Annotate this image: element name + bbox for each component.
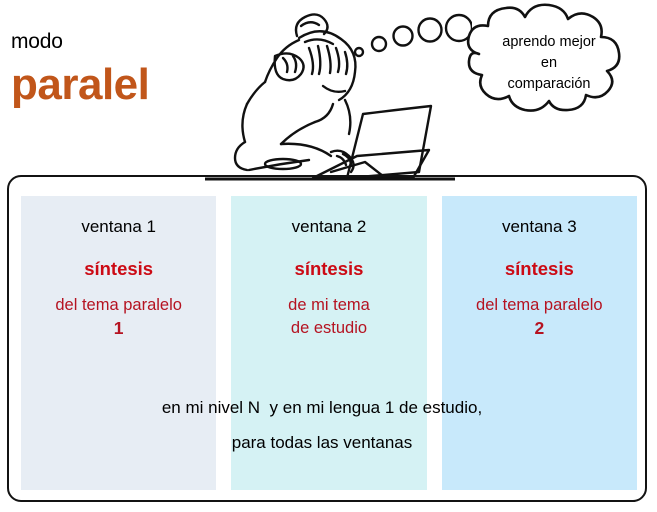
caption-line-1: en mi nivel N y en mi lengua 1 de estudi… bbox=[21, 390, 623, 425]
cloud-text-line-1: aprendo mejor bbox=[463, 32, 635, 53]
page-title: paralel bbox=[11, 60, 149, 110]
cloud-text-line-2: en bbox=[463, 53, 635, 74]
detail-text-2: de mi tema de estudio bbox=[231, 294, 426, 340]
detail-line-2-1: de mi tema bbox=[231, 294, 426, 317]
cloud-text-line-3: comparación bbox=[463, 74, 635, 95]
window-label-1: ventana 1 bbox=[21, 216, 216, 238]
detail-line-2-2: de estudio bbox=[231, 317, 426, 340]
detail-line-1-1: del tema paralelo bbox=[21, 294, 216, 317]
thought-cloud-text: aprendo mejor en comparación bbox=[463, 32, 635, 95]
detail-strong-1: 1 bbox=[21, 317, 216, 340]
caption-line-2: para todas las ventanas bbox=[21, 425, 623, 460]
mode-label: modo bbox=[11, 30, 63, 54]
detail-line-3-1: del tema paralelo bbox=[442, 294, 637, 317]
detail-text-3: del tema paralelo 2 bbox=[442, 294, 637, 340]
detail-strong-3: 2 bbox=[442, 317, 637, 340]
synthesis-label-2: síntesis bbox=[231, 258, 426, 280]
synthesis-label-1: síntesis bbox=[21, 258, 216, 280]
window-label-3: ventana 3 bbox=[442, 216, 637, 238]
header-area: modo paralel bbox=[0, 0, 657, 175]
panel-caption: en mi nivel N y en mi lengua 1 de estudi… bbox=[21, 390, 623, 460]
detail-text-1: del tema paralelo 1 bbox=[21, 294, 216, 340]
window-label-2: ventana 2 bbox=[231, 216, 426, 238]
synthesis-label-3: síntesis bbox=[442, 258, 637, 280]
